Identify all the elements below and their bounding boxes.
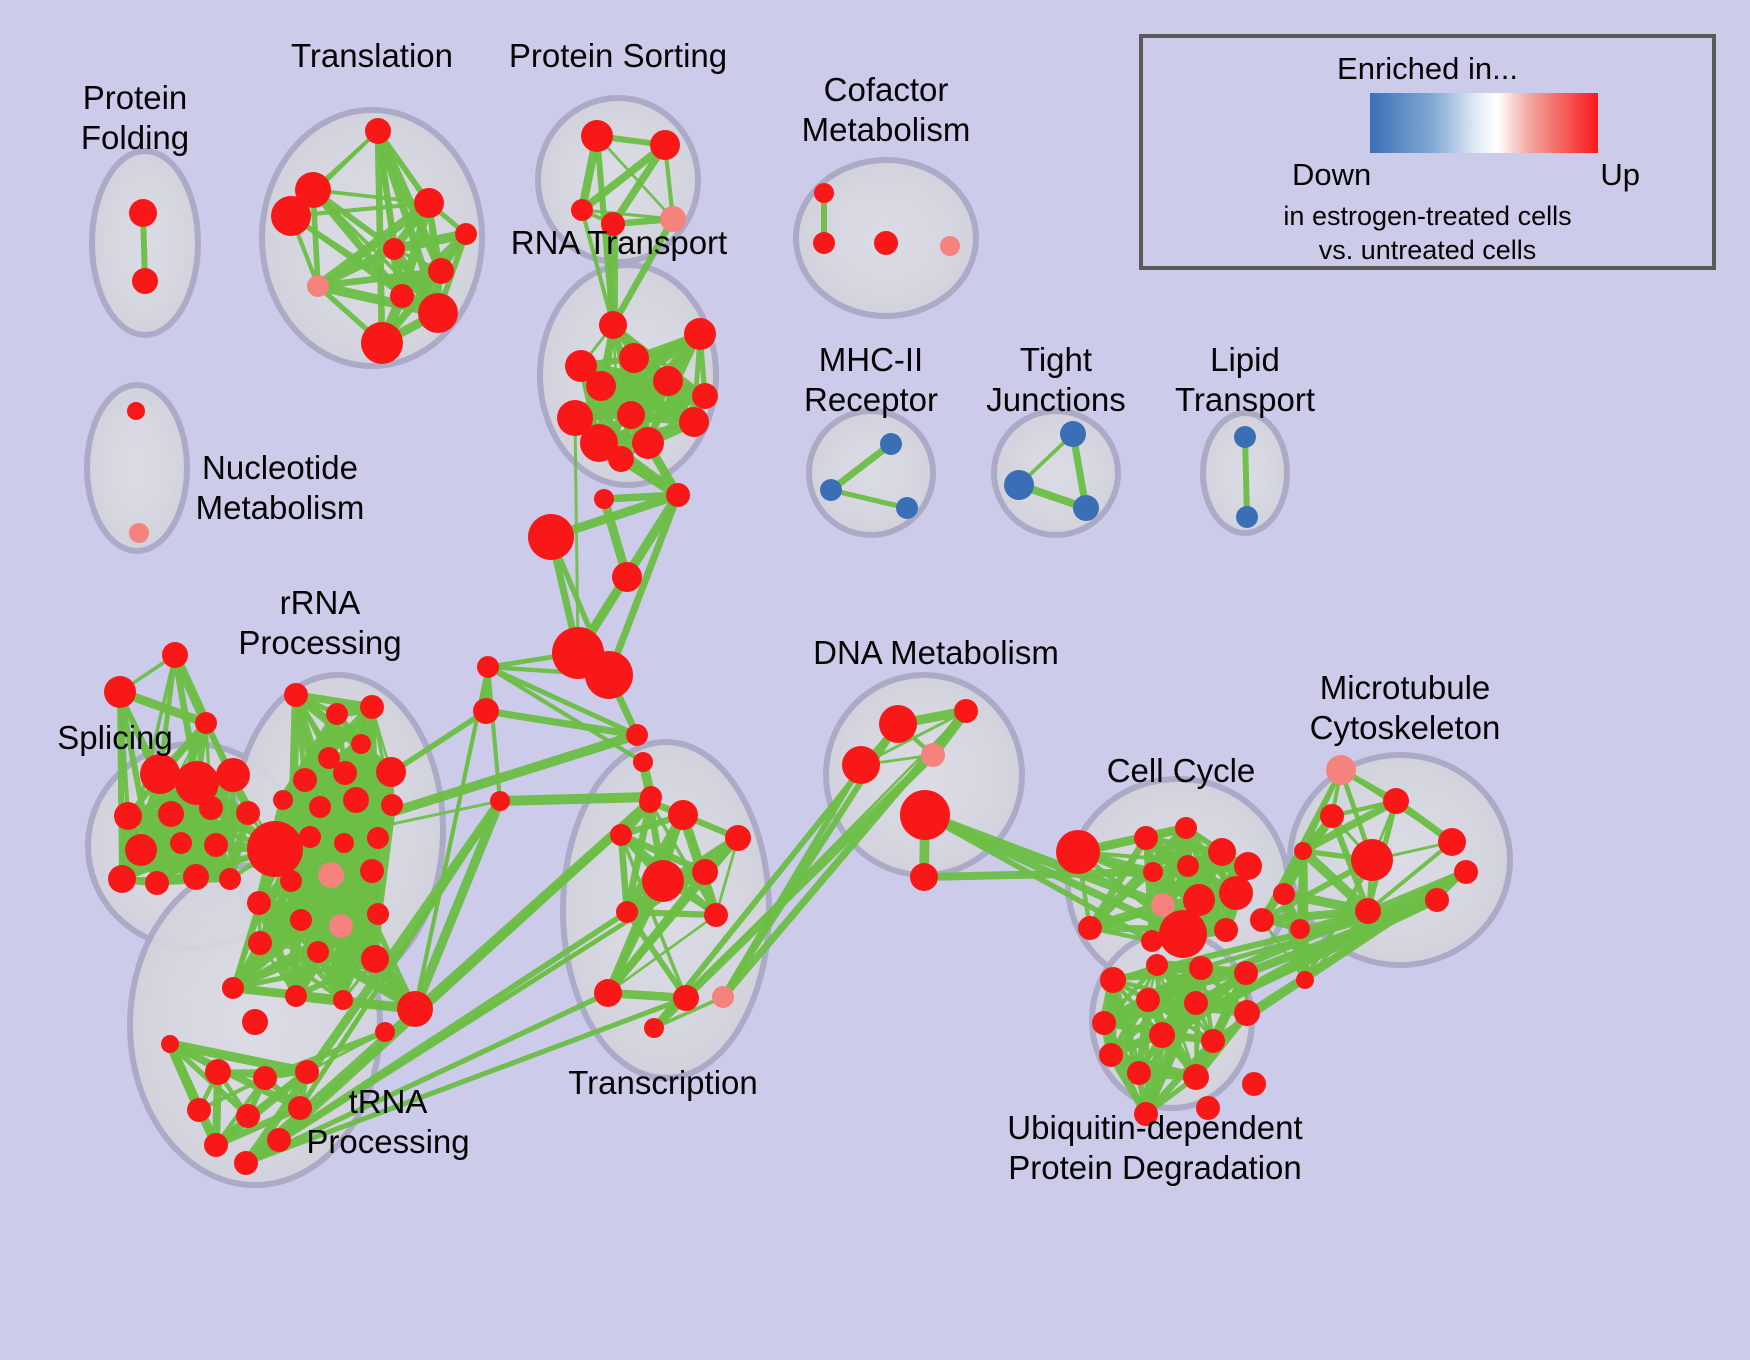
network-node[interactable] (351, 734, 371, 754)
network-node[interactable] (1326, 755, 1356, 785)
network-node[interactable] (236, 1104, 260, 1128)
network-node[interactable] (108, 865, 136, 893)
network-node[interactable] (222, 977, 244, 999)
network-node[interactable] (528, 514, 574, 560)
network-node[interactable] (1351, 839, 1393, 881)
network-node[interactable] (247, 891, 271, 915)
network-node[interactable] (170, 832, 192, 854)
network-node[interactable] (842, 746, 880, 784)
network-node[interactable] (307, 275, 329, 297)
network-node[interactable] (896, 497, 918, 519)
network-node[interactable] (692, 859, 718, 885)
edge (1300, 851, 1303, 929)
network-node[interactable] (318, 862, 344, 888)
network-node[interactable] (599, 311, 627, 339)
cluster-bubble-mhc-ii[interactable] (809, 411, 933, 535)
network-node[interactable] (1214, 918, 1238, 942)
network-node[interactable] (610, 824, 632, 846)
network-node[interactable] (204, 833, 228, 857)
network-node[interactable] (1146, 954, 1168, 976)
network-node[interactable] (1183, 1064, 1209, 1090)
edge (500, 797, 651, 801)
network-node[interactable] (1201, 1029, 1225, 1053)
legend-low-label: Down (1292, 157, 1371, 192)
network-node[interactable] (199, 796, 223, 820)
network-node[interactable] (1134, 826, 1158, 850)
network-node[interactable] (1073, 495, 1099, 521)
network-node[interactable] (383, 238, 405, 260)
network-node[interactable] (910, 863, 938, 891)
network-node[interactable] (612, 562, 642, 592)
network-node[interactable] (288, 1096, 312, 1120)
network-node[interactable] (1149, 1022, 1175, 1048)
network-node[interactable] (360, 695, 384, 719)
network-node[interactable] (490, 791, 510, 811)
cluster-bubble-transcription[interactable] (563, 742, 769, 1078)
network-node[interactable] (1189, 956, 1213, 980)
cluster-label-splicing: Splicing (57, 719, 173, 756)
network-canvas: ProteinFoldingTranslationProtein Sorting… (0, 0, 1750, 1360)
network-node[interactable] (1092, 1011, 1116, 1035)
cluster-label-translation: Translation (291, 37, 453, 74)
network-node[interactable] (704, 903, 728, 927)
network-node[interactable] (820, 479, 842, 501)
network-node[interactable] (1078, 916, 1102, 940)
network-node[interactable] (1100, 967, 1126, 993)
network-node[interactable] (140, 754, 180, 794)
network-node[interactable] (940, 236, 960, 256)
network-node[interactable] (236, 801, 260, 825)
network-node[interactable] (329, 914, 353, 938)
network-node[interactable] (129, 523, 149, 543)
network-node[interactable] (428, 258, 454, 284)
cluster-label-protein-sorting: Protein Sorting (509, 37, 727, 74)
network-node[interactable] (333, 990, 353, 1010)
network-node[interactable] (145, 871, 169, 895)
network-node[interactable] (1273, 883, 1295, 905)
network-node[interactable] (158, 801, 184, 827)
network-node[interactable] (129, 199, 157, 227)
network-node[interactable] (668, 800, 698, 830)
cluster-label-dna-metabolism: DNA Metabolism (813, 634, 1059, 671)
network-node[interactable] (219, 868, 241, 890)
network-node[interactable] (343, 787, 369, 813)
network-node[interactable] (273, 790, 293, 810)
network-node[interactable] (921, 743, 945, 767)
network-node[interactable] (1320, 804, 1344, 828)
network-node[interactable] (216, 758, 250, 792)
network-node[interactable] (1234, 426, 1256, 448)
network-node[interactable] (375, 1022, 395, 1042)
network-node[interactable] (684, 318, 716, 350)
network-node[interactable] (879, 705, 917, 743)
network-node[interactable] (585, 651, 633, 699)
network-node[interactable] (725, 825, 751, 851)
network-node[interactable] (267, 1128, 291, 1152)
network-node[interactable] (455, 223, 477, 245)
network-node[interactable] (242, 1009, 268, 1035)
network-node[interactable] (626, 724, 648, 746)
cluster-label-transcription: Transcription (568, 1064, 758, 1101)
network-node[interactable] (632, 427, 664, 459)
network-node[interactable] (285, 985, 307, 1007)
network-node[interactable] (1234, 852, 1262, 880)
network-node[interactable] (280, 870, 302, 892)
network-node[interactable] (309, 796, 331, 818)
legend-high-label: Up (1600, 157, 1640, 192)
legend-caption-line-2: vs. untreated cells (1319, 235, 1537, 265)
network-node[interactable] (1355, 898, 1381, 924)
network-node[interactable] (594, 979, 622, 1007)
network-node[interactable] (1383, 788, 1409, 814)
network-node[interactable] (360, 859, 384, 883)
network-node[interactable] (247, 821, 303, 877)
network-node[interactable] (132, 268, 158, 294)
network-node[interactable] (1177, 855, 1199, 877)
network-node[interactable] (1250, 908, 1274, 932)
network-node[interactable] (1242, 1072, 1266, 1096)
network-node[interactable] (127, 402, 145, 420)
network-node[interactable] (334, 833, 354, 853)
network-node[interactable] (326, 703, 348, 725)
network-node[interactable] (617, 401, 645, 429)
cluster-label-cell-cycle: Cell Cycle (1107, 752, 1256, 789)
network-node[interactable] (1219, 876, 1253, 910)
network-node[interactable] (418, 293, 458, 333)
network-node[interactable] (1004, 470, 1034, 500)
legend-caption-line-1: in estrogen-treated cells (1283, 201, 1571, 231)
network-node[interactable] (299, 826, 321, 848)
network-node[interactable] (307, 941, 329, 963)
network-node[interactable] (594, 489, 614, 509)
network-node[interactable] (1136, 988, 1160, 1012)
network-node[interactable] (361, 945, 389, 973)
network-node[interactable] (1438, 828, 1466, 856)
network-node[interactable] (361, 322, 403, 364)
network-node[interactable] (571, 199, 593, 221)
network-node[interactable] (639, 791, 661, 813)
network-node[interactable] (1099, 1043, 1123, 1067)
network-node[interactable] (195, 712, 217, 734)
network-node[interactable] (293, 768, 317, 792)
network-node[interactable] (1143, 862, 1163, 882)
network-node[interactable] (284, 683, 308, 707)
network-node[interactable] (586, 371, 616, 401)
network-node[interactable] (608, 446, 634, 472)
network-node[interactable] (162, 642, 188, 668)
network-node[interactable] (1175, 817, 1197, 839)
network-node[interactable] (616, 901, 638, 923)
network-node[interactable] (367, 827, 389, 849)
network-node[interactable] (633, 752, 653, 772)
network-node[interactable] (954, 699, 978, 723)
network-node[interactable] (295, 1060, 319, 1084)
edge (627, 912, 716, 915)
network-node[interactable] (125, 834, 157, 866)
network-node[interactable] (376, 757, 406, 787)
network-node[interactable] (619, 343, 649, 373)
legend: Enriched in... Down Up in estrogen-treat… (1141, 36, 1714, 268)
network-node[interactable] (666, 483, 690, 507)
network-node[interactable] (290, 909, 312, 931)
network-node[interactable] (814, 183, 834, 203)
network-node[interactable] (1159, 910, 1207, 958)
network-node[interactable] (397, 991, 433, 1027)
network-node[interactable] (1234, 1000, 1260, 1026)
network-node[interactable] (1056, 830, 1100, 874)
network-node[interactable] (253, 1066, 277, 1090)
network-node[interactable] (581, 120, 613, 152)
network-node[interactable] (874, 231, 898, 255)
network-node[interactable] (473, 698, 499, 724)
network-figure: ProteinFoldingTranslationProtein Sorting… (0, 0, 1750, 1360)
network-node[interactable] (1294, 842, 1312, 860)
legend-color-bar (1370, 93, 1598, 153)
cluster-label-rna-transport: RNA Transport (511, 224, 727, 261)
network-node[interactable] (1454, 860, 1478, 884)
edge (1245, 437, 1247, 517)
network-node[interactable] (1127, 1061, 1151, 1085)
network-node[interactable] (1425, 888, 1449, 912)
network-node[interactable] (104, 676, 136, 708)
network-node[interactable] (644, 1018, 664, 1038)
network-node[interactable] (650, 130, 680, 160)
network-node[interactable] (642, 860, 684, 902)
network-node[interactable] (813, 232, 835, 254)
network-node[interactable] (1290, 919, 1310, 939)
network-node[interactable] (381, 794, 403, 816)
network-node[interactable] (333, 761, 357, 785)
network-node[interactable] (900, 790, 950, 840)
network-node[interactable] (712, 986, 734, 1008)
network-node[interactable] (367, 903, 389, 925)
network-node[interactable] (653, 366, 683, 396)
network-node[interactable] (477, 656, 499, 678)
network-node[interactable] (1236, 506, 1258, 528)
network-node[interactable] (234, 1151, 258, 1175)
legend-title: Enriched in... (1337, 51, 1518, 86)
network-node[interactable] (880, 433, 902, 455)
network-node[interactable] (248, 931, 272, 955)
network-node[interactable] (414, 188, 444, 218)
network-node[interactable] (187, 1098, 211, 1122)
network-node[interactable] (679, 407, 709, 437)
network-node[interactable] (1208, 838, 1236, 866)
network-node[interactable] (271, 196, 311, 236)
network-node[interactable] (1184, 991, 1208, 1015)
network-node[interactable] (204, 1133, 228, 1157)
network-node[interactable] (365, 118, 391, 144)
network-node[interactable] (1296, 971, 1314, 989)
network-node[interactable] (205, 1059, 231, 1085)
network-node[interactable] (692, 383, 718, 409)
network-node[interactable] (183, 864, 209, 890)
network-node[interactable] (390, 284, 414, 308)
network-node[interactable] (1060, 421, 1086, 447)
network-node[interactable] (1234, 961, 1258, 985)
network-node[interactable] (114, 802, 142, 830)
network-node[interactable] (161, 1035, 179, 1053)
network-node[interactable] (673, 985, 699, 1011)
